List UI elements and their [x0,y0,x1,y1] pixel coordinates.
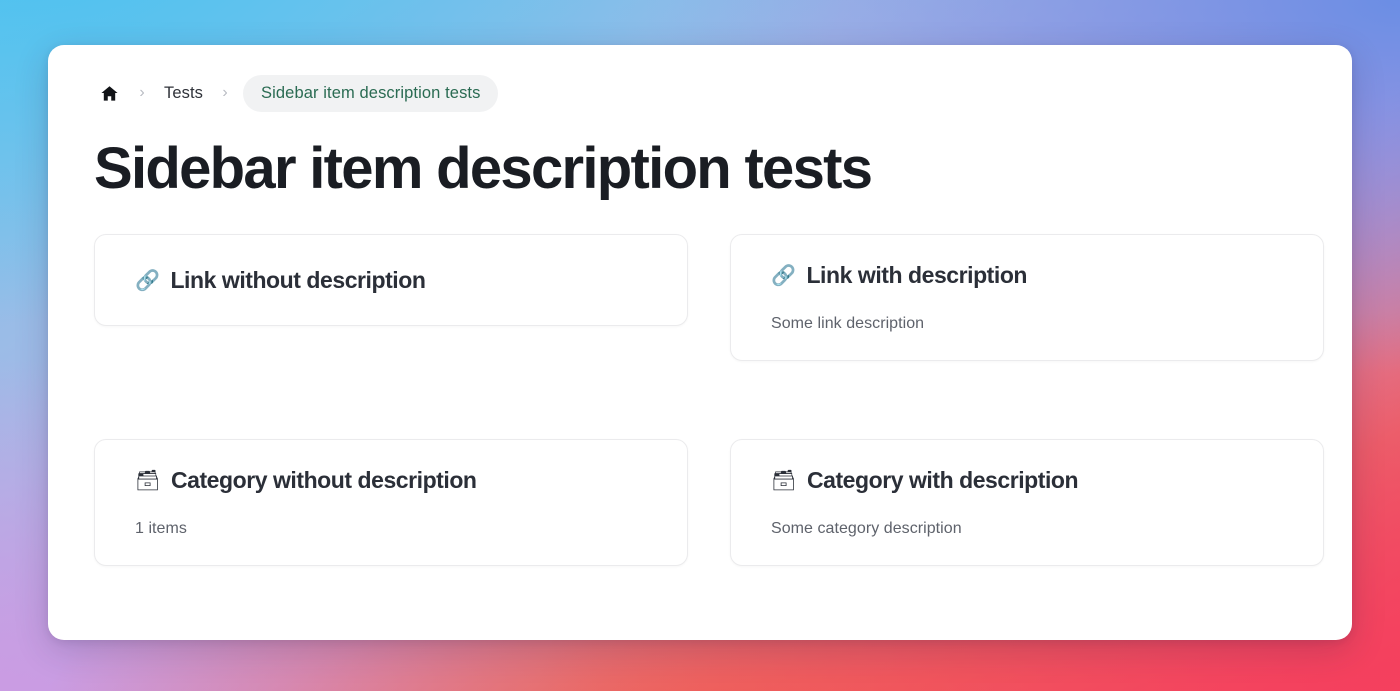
card-title: Link without description [170,266,425,295]
card-item-count: 1 items [135,519,647,540]
card-title: Category with description [807,466,1078,495]
page-title: Sidebar item description tests [76,113,1324,200]
breadcrumb-home-link[interactable] [94,78,124,108]
card-category-without-description[interactable]: 🗃 Category without description 1 items [94,439,688,567]
card-file-box-icon: 🗃 [771,470,796,490]
card-category-with-description[interactable]: 🗃 Category with description Some categor… [730,439,1324,567]
home-icon [100,84,119,103]
link-icon: 🔗 [135,270,159,290]
breadcrumb-separator-1: › [126,85,158,101]
card-heading: 🔗 Link without description [135,266,647,295]
grid-cell-link-with-description: 🔗 Link with description Some link descri… [730,234,1324,439]
card-description: Some category description [771,519,1283,540]
card-grid: 🔗 Link without description 🔗 Link with d… [76,200,1324,640]
card-description: Some link description [771,314,1283,335]
grid-cell-category-with-description: 🗃 Category with description Some categor… [730,439,1324,640]
card-title: Link with description [806,261,1027,290]
card-heading: 🗃 Category with description [771,466,1283,495]
link-icon: 🔗 [771,265,795,285]
card-heading: 🔗 Link with description [771,261,1283,290]
content-panel: › Tests › Sidebar item description tests… [48,45,1352,640]
card-link-without-description[interactable]: 🔗 Link without description [94,234,688,326]
breadcrumb-item-current[interactable]: Sidebar item description tests [243,75,498,112]
grid-cell-link-without-description: 🔗 Link without description [94,234,688,439]
card-title: Category without description [171,466,477,495]
breadcrumb-separator-2: › [209,85,241,101]
card-link-with-description[interactable]: 🔗 Link with description Some link descri… [730,234,1324,362]
breadcrumb: › Tests › Sidebar item description tests [76,73,1324,113]
grid-cell-category-without-description: 🗃 Category without description 1 items [94,439,688,640]
card-heading: 🗃 Category without description [135,466,647,495]
card-file-box-icon: 🗃 [135,470,160,490]
breadcrumb-item-tests[interactable]: Tests [160,78,207,109]
